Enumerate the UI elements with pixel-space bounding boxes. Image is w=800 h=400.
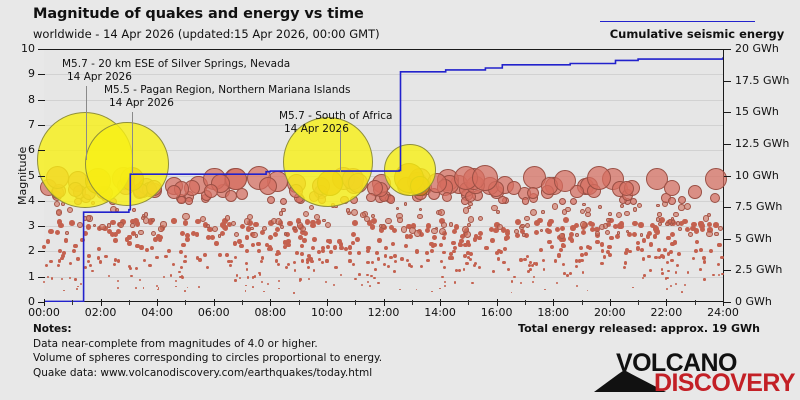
x-tick-minor <box>582 300 583 305</box>
x-tick-major <box>497 299 498 306</box>
page-subtitle: worldwide - 14 Apr 2026 (updated:15 Apr … <box>33 27 380 41</box>
x-tick-label: 18:00 <box>531 306 575 319</box>
y-tick-left <box>38 125 45 126</box>
x-tick-label: 24:00 <box>701 306 745 319</box>
y-tick-right <box>724 144 731 145</box>
y-tick-right <box>724 112 731 113</box>
y-tick-left <box>38 226 45 227</box>
y-tick-label-right: 12.5 GWh <box>735 137 789 150</box>
annotation-date: 14 Apr 2026 <box>67 71 290 84</box>
y-tick-label-left: 1 <box>5 270 35 283</box>
x-tick-label: 16:00 <box>475 306 519 319</box>
x-tick-label: 02:00 <box>79 306 123 319</box>
x-tick-minor <box>129 300 130 305</box>
y-tick-right <box>724 176 731 177</box>
x-tick-major <box>101 299 102 306</box>
note-line-1: Data near-complete from magnitudes of 4.… <box>33 337 382 352</box>
y-tick-right <box>724 207 731 208</box>
logo-word-discovery: DISCOVERY <box>654 369 795 398</box>
y-tick-left <box>38 49 45 50</box>
y-tick-left <box>38 201 45 202</box>
notes-block: Notes: Data near-complete from magnitude… <box>33 322 382 381</box>
x-tick-major <box>384 299 385 306</box>
x-tick-major <box>666 299 667 306</box>
x-tick-label: 22:00 <box>644 306 688 319</box>
y-tick-label-right: 5 GWh <box>735 232 772 245</box>
y-axis-title: Magnitude <box>16 147 29 205</box>
x-tick-label: 04:00 <box>135 306 179 319</box>
note-line-3[interactable]: Quake data: www.volcanodiscovery.com/ear… <box>33 366 382 381</box>
y-tick-label-left: 8 <box>5 93 35 106</box>
x-tick-minor <box>695 300 696 305</box>
x-tick-minor <box>525 300 526 305</box>
page-title: Magnitude of quakes and energy vs time <box>33 6 364 22</box>
quake-annotation: M5.5 - Pagan Region, Northern Mariana Is… <box>104 84 350 110</box>
y-tick-label-right: 20 GWh <box>735 42 779 55</box>
annotation-leader-line <box>132 112 133 174</box>
x-tick-major <box>44 299 45 306</box>
volcanodiscovery-logo[interactable]: VOLCANO DISCOVERY <box>594 349 769 393</box>
x-tick-label: 10:00 <box>305 306 349 319</box>
x-tick-major <box>270 299 271 306</box>
annotation-date: 14 Apr 2026 <box>284 123 392 136</box>
annotation-title: M5.7 - South of Africa <box>279 110 392 123</box>
y-tick-right <box>724 81 731 82</box>
x-tick-minor <box>72 300 73 305</box>
notes-header: Notes: <box>33 322 382 337</box>
y-tick-right <box>724 302 731 303</box>
legend-line-swatch <box>600 21 755 22</box>
y-tick-left <box>38 251 45 252</box>
y-tick-label-right: 2.5 GWh <box>735 263 782 276</box>
y-tick-label-left: 3 <box>5 219 35 232</box>
x-tick-label: 14:00 <box>418 306 462 319</box>
y-tick-left <box>38 150 45 151</box>
x-tick-label: 20:00 <box>588 306 632 319</box>
x-tick-major <box>723 299 724 306</box>
quake-annotation: M5.7 - South of Africa14 Apr 2026 <box>279 110 392 136</box>
x-tick-label: 00:00 <box>22 306 66 319</box>
x-tick-major <box>553 299 554 306</box>
x-tick-minor <box>242 300 243 305</box>
y-tick-label-left: 9 <box>5 67 35 80</box>
annotation-title: M5.5 - Pagan Region, Northern Mariana Is… <box>104 84 350 97</box>
quake-annotation: M5.7 - 20 km ESE of Silver Springs, Neva… <box>62 58 290 84</box>
annotation-date: 14 Apr 2026 <box>109 97 350 110</box>
y-tick-label-right: 15 GWh <box>735 105 779 118</box>
x-tick-minor <box>299 300 300 305</box>
total-energy-label: Total energy released: approx. 19 GWh <box>430 322 760 335</box>
x-tick-label: 08:00 <box>248 306 292 319</box>
x-tick-minor <box>638 300 639 305</box>
annotation-leader-line <box>340 130 341 172</box>
x-tick-label: 06:00 <box>192 306 236 319</box>
y-tick-right <box>724 270 731 271</box>
y-tick-left <box>38 74 45 75</box>
y-tick-label-left: 7 <box>5 118 35 131</box>
y-tick-left <box>38 277 45 278</box>
x-tick-minor <box>412 300 413 305</box>
y-tick-right <box>724 49 731 50</box>
x-tick-major <box>610 299 611 306</box>
y-tick-right <box>724 239 731 240</box>
y-tick-label-right: 17.5 GWh <box>735 74 789 87</box>
y-tick-left <box>38 176 45 177</box>
y-tick-label-left: 10 <box>5 42 35 55</box>
x-tick-minor <box>468 300 469 305</box>
x-tick-label: 12:00 <box>362 306 406 319</box>
x-tick-major <box>157 299 158 306</box>
y-tick-label-right: 7.5 GWh <box>735 200 782 213</box>
note-line-2: Volume of spheres corresponding to circl… <box>33 351 382 366</box>
x-tick-minor <box>185 300 186 305</box>
annotation-title: M5.7 - 20 km ESE of Silver Springs, Neva… <box>62 58 290 71</box>
x-tick-minor <box>355 300 356 305</box>
y-tick-label-left: 2 <box>5 244 35 257</box>
y-tick-label-right: 10 GWh <box>735 169 779 182</box>
x-tick-major <box>327 299 328 306</box>
x-tick-major <box>214 299 215 306</box>
annotation-leader-line <box>86 86 87 160</box>
y-tick-left <box>38 100 45 101</box>
x-tick-major <box>440 299 441 306</box>
legend-label-cumulative-energy: Cumulative seismic energy <box>597 27 797 41</box>
